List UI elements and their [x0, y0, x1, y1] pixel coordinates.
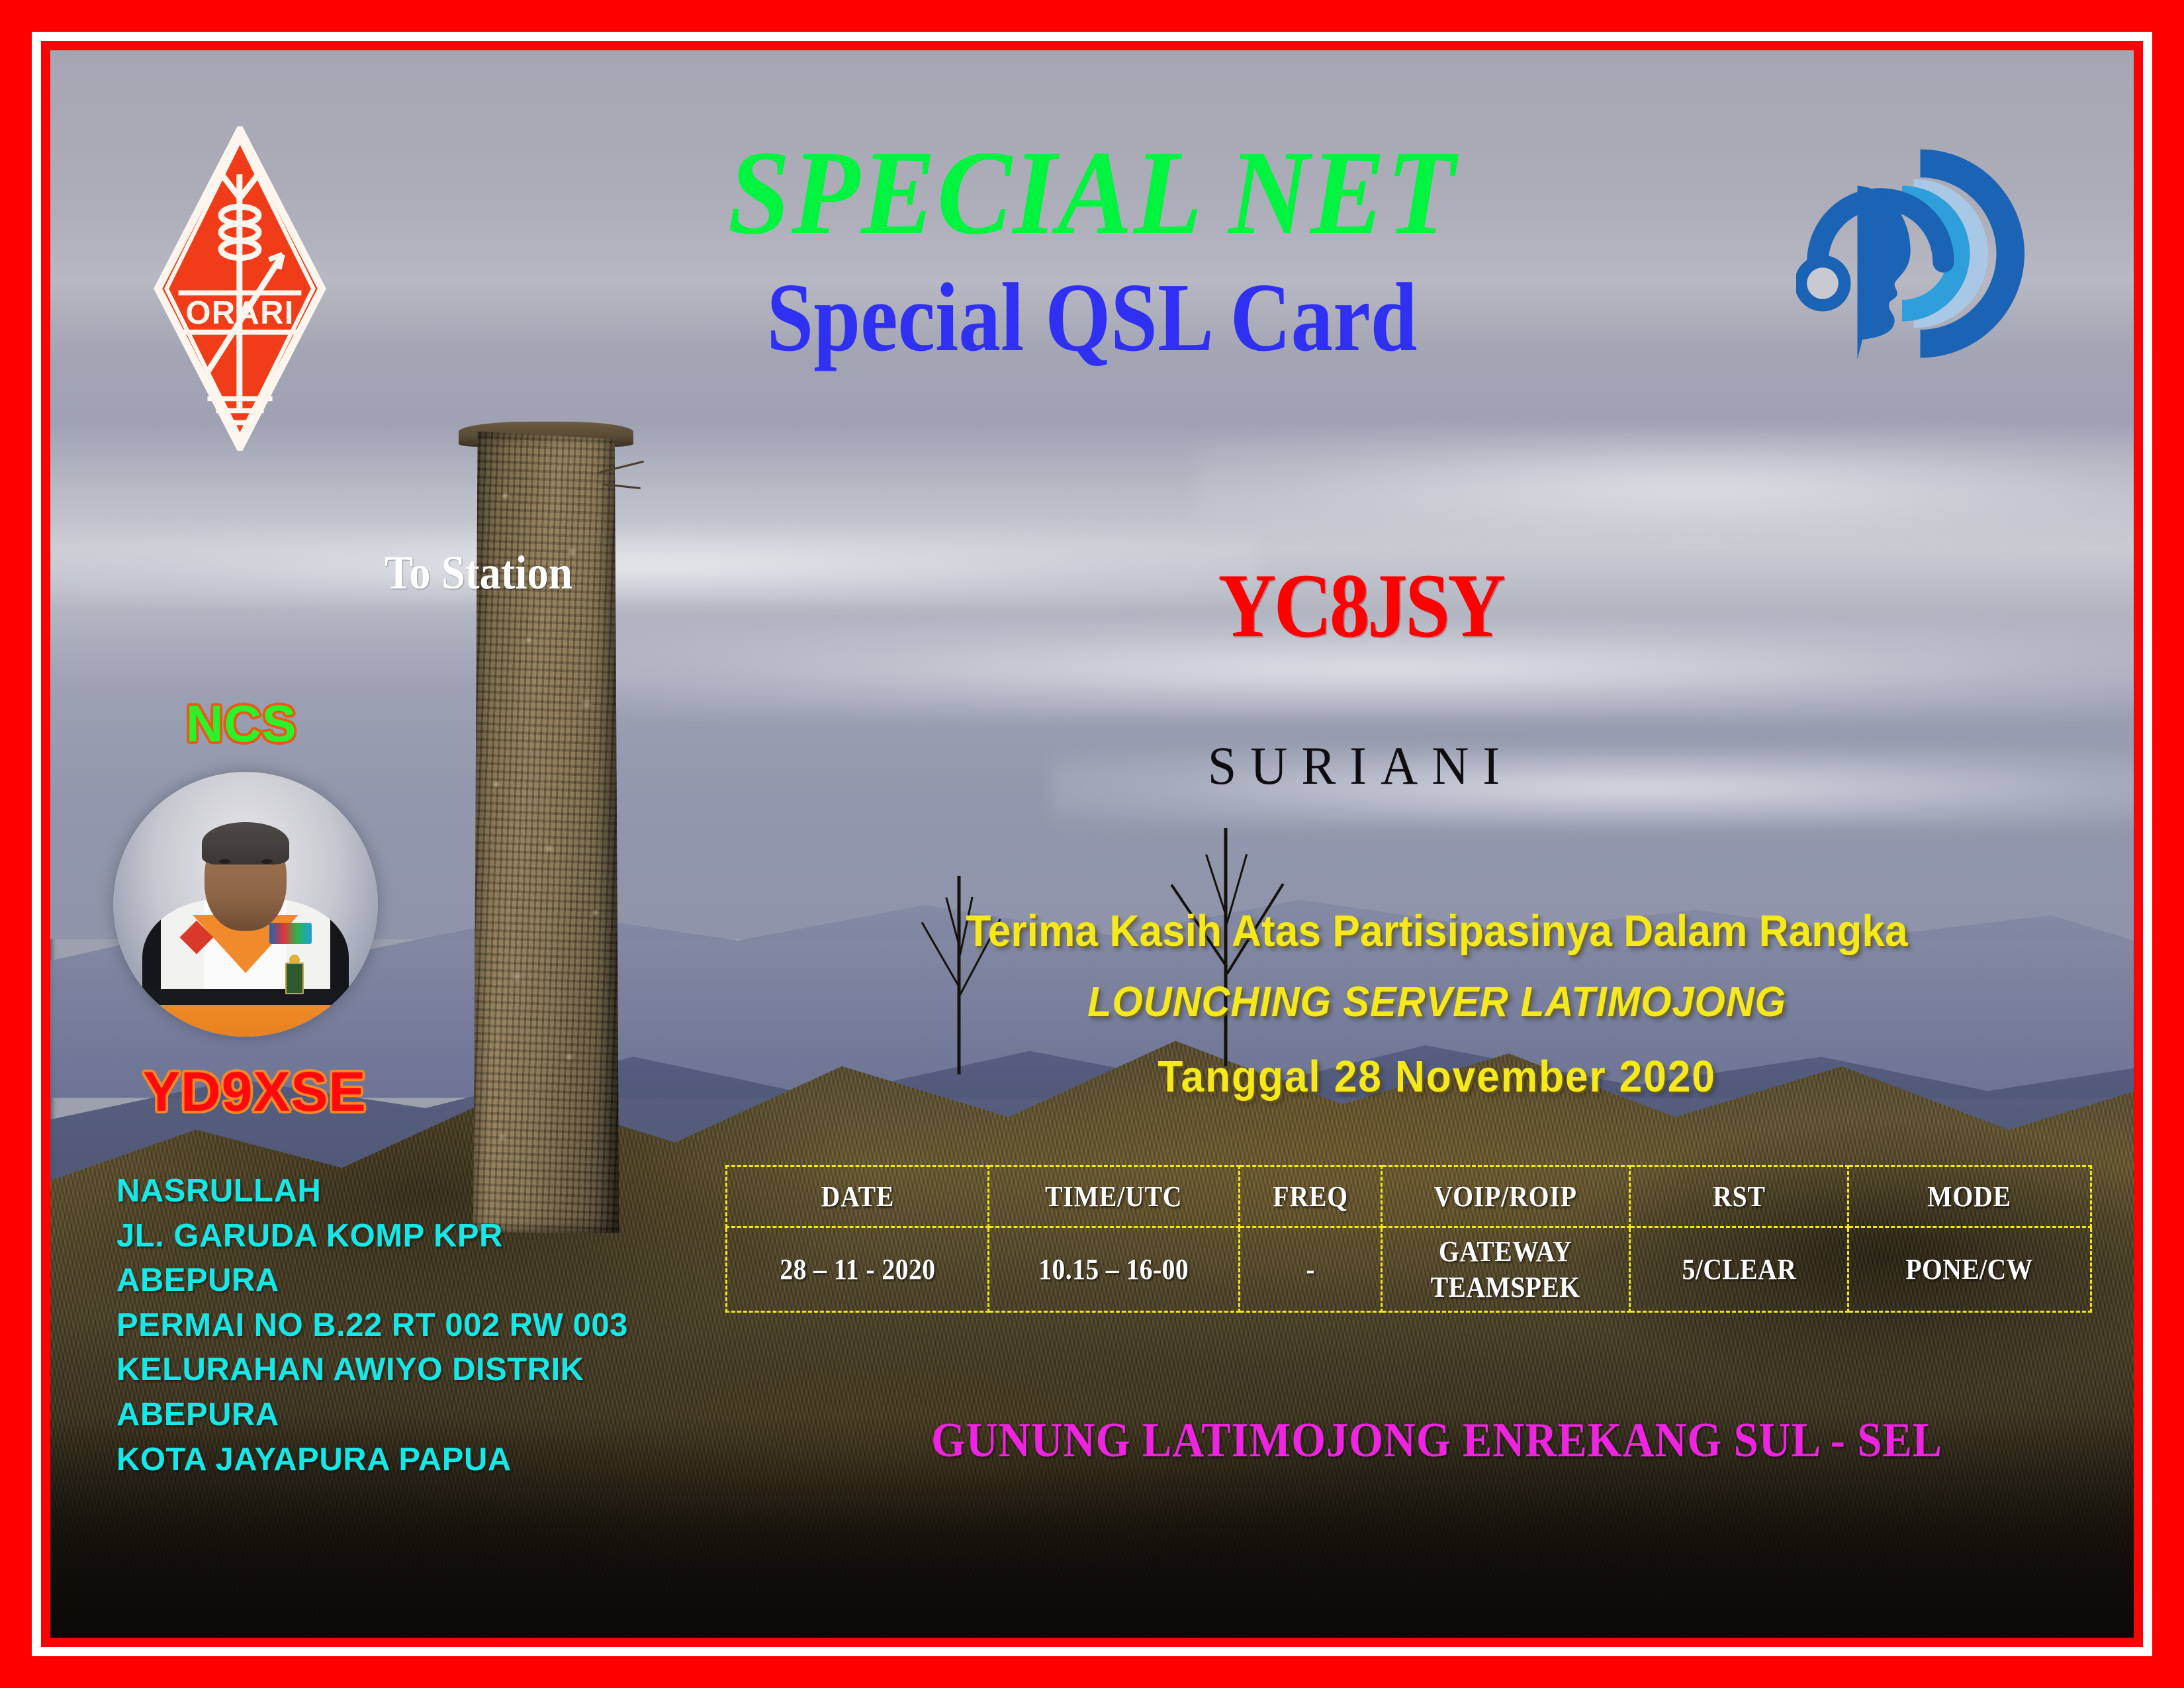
card-frame-red-inner: ORARI — [41, 41, 2143, 1647]
photo-hair — [202, 822, 289, 865]
qsl-card: ORARI — [0, 0, 2184, 1688]
ncs-operator-photo — [113, 772, 378, 1037]
station-callsign: YC8JSY — [1040, 560, 1681, 651]
column-header-time: TIME/UTC — [1001, 1166, 1226, 1227]
event-date-line: Tanggal 28 November 2020 — [769, 1051, 2105, 1102]
ncs-callsign: YD9XSE — [143, 1060, 367, 1124]
cell-time: 10.15 – 16-00 — [1001, 1227, 1226, 1312]
column-header-date: DATE — [739, 1166, 975, 1227]
cell-voip-line2: TEAMSPEK — [1394, 1270, 1616, 1305]
table-header-row: DATE TIME/UTC FREQ VOIP/ROIP RST MODE — [727, 1166, 2091, 1227]
cell-freq: - — [1247, 1227, 1375, 1312]
photo-uniform-patch — [269, 923, 312, 944]
address-line: NASRULLAH — [116, 1169, 628, 1214]
photo-id-badge — [285, 962, 304, 994]
table-row: 28 – 11 - 2020 10.15 – 16-00 - GATEWAY T… — [727, 1227, 2091, 1312]
photo-eye — [219, 859, 230, 864]
event-title-line: LOUNCHING SERVER LATIMOJONG — [769, 977, 2105, 1026]
cloud-wisp — [1196, 432, 2134, 543]
event-thanks-line: Terima Kasih Atas Partisipasinya Dalam R… — [769, 906, 2105, 957]
return-address-block: NASRULLAH JL. GARUDA KOMP KPR ABEPURA PE… — [116, 1169, 628, 1482]
photo-eye — [261, 859, 273, 864]
column-header-freq: FREQ — [1247, 1166, 1375, 1227]
page-subtitle: Special QSL Card — [196, 269, 1987, 367]
operator-name: SURIANI — [1015, 739, 1707, 793]
qso-table: DATE TIME/UTC FREQ VOIP/ROIP RST MODE 28… — [725, 1165, 2092, 1313]
footer-motto: "AMATIR RADIO ADALAH PROGRESIVE" — [133, 1636, 1045, 1638]
address-line: KELURAHAN AWIYO DISTRIK — [116, 1348, 628, 1393]
cell-voip: GATEWAY TEAMSPEK — [1394, 1227, 1617, 1312]
footer-web-address: Address : amatir.latimojong.com — [1416, 1636, 2054, 1638]
cell-rst: 5/CLEAR — [1641, 1227, 1837, 1312]
column-header-mode: MODE — [1860, 1166, 2079, 1227]
address-line: KOTA JAYAPURA PAPUA — [116, 1438, 628, 1483]
to-station-label: To Station — [385, 545, 572, 600]
address-line: ABEPURA — [116, 1393, 628, 1438]
card-frame-white: ORARI — [32, 32, 2152, 1656]
ncs-label: NCS — [186, 694, 297, 754]
cell-date: 28 – 11 - 2020 — [739, 1227, 975, 1312]
column-header-rst: RST — [1641, 1166, 1837, 1227]
address-line: ABEPURA — [116, 1258, 628, 1303]
location-line: GUNUNG LATIMOJONG ENREKANG SUL - SEL — [791, 1413, 2083, 1469]
address-line: JL. GARUDA KOMP KPR — [116, 1214, 628, 1259]
card-background-photo: ORARI — [50, 50, 2134, 1638]
column-header-voip: VOIP/ROIP — [1394, 1166, 1617, 1227]
cell-mode: PONE/CW — [1860, 1227, 2079, 1312]
cell-voip-line1: GATEWAY — [1394, 1234, 1616, 1270]
page-title: SPECIAL NET — [123, 133, 2061, 254]
photo-sash — [142, 1005, 349, 1037]
photo-belt — [142, 989, 349, 1005]
address-line: PERMAI NO B.22 RT 002 RW 003 — [116, 1303, 628, 1348]
